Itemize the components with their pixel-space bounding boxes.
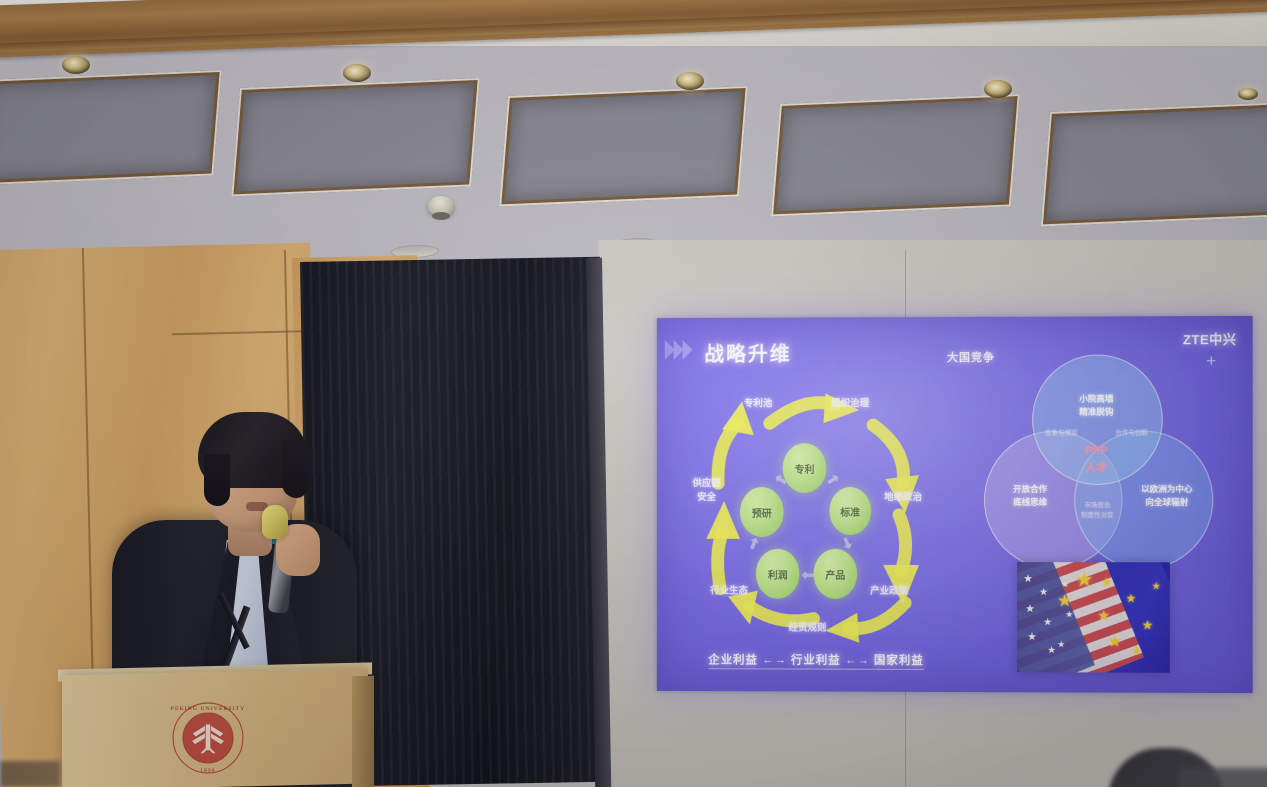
smoke-detector-icon xyxy=(428,196,454,216)
presentation-photo: 战略升维 大国竞争 ZTE中兴 + xyxy=(0,0,1267,787)
venn-diagram: 小院高墙 精准脱钩 开放合作 底线思维 以欧洲为中心 向全球辐射 PPP 人才 … xyxy=(980,354,1211,580)
speaker-hair-side xyxy=(282,440,308,498)
ring-label-industrial-policy: 产业政策 xyxy=(870,585,908,599)
bubble-profit: 利润 xyxy=(756,549,800,599)
venn-overlap-label-bottom: 市场竞合 制度性对弈 xyxy=(1066,501,1128,521)
ceiling-downlight xyxy=(984,80,1012,98)
ring-label-org-governance: 组织治理 xyxy=(831,397,869,411)
bubble-connector-arrow xyxy=(841,536,854,551)
triple-chevron-icon xyxy=(665,340,699,360)
bubble-connector-arrow xyxy=(748,536,761,550)
venn-label-top: 小院高墙 精准脱钩 xyxy=(1058,393,1134,419)
projection-screen: 战略升维 大国竞争 ZTE中兴 + xyxy=(657,316,1253,693)
ceiling-coffer-panel xyxy=(499,86,748,207)
foreground-shadow xyxy=(0,761,60,787)
ring-label-industry-ecology: 行业生态 xyxy=(710,585,748,599)
bubble-connector-arrow xyxy=(826,473,841,487)
ceiling-downlight xyxy=(1238,88,1258,100)
bubble-patent: 专利 xyxy=(783,443,827,493)
seal-year-text: 1898 xyxy=(200,768,216,774)
ceiling-coffer-panel xyxy=(231,78,480,197)
slide-bottom-statement: 企业利益 ←→ 行业利益 ←→ 国家利益 xyxy=(708,651,924,670)
podium-side-panel xyxy=(352,676,374,787)
bubble-connector-arrow xyxy=(801,571,813,580)
ceiling-downlight xyxy=(676,72,704,90)
cycle-arrow-bottom-right xyxy=(813,595,909,643)
ceiling-coffer-panel xyxy=(1041,102,1267,227)
seal-university-text: PEKING UNIVERSITY xyxy=(171,706,246,712)
bubble-product: 产品 xyxy=(813,549,857,599)
ring-label-geopolitics: 地缘政治 xyxy=(884,491,922,505)
ceiling-coffer-panel xyxy=(0,70,222,185)
cycle-arrow-left-upper xyxy=(708,401,760,487)
venn-label-center: PPP 人才 xyxy=(1072,443,1120,476)
ring-label-trade-rules: 经贸规则 xyxy=(789,622,827,636)
bubble-standard: 标准 xyxy=(829,487,871,535)
ceiling-downlight xyxy=(62,56,90,74)
venn-label-left: 开放合作 底线思维 xyxy=(992,483,1068,509)
venn-overlap-label-top-left: 竞争与博弈 xyxy=(1030,429,1092,439)
ceiling-downlight xyxy=(343,64,371,82)
ceiling-coffer-panel xyxy=(771,94,1020,217)
ring-label-patent-pool: 专利池 xyxy=(744,397,772,411)
venn-label-right: 以欧洲为中心 向全球辐射 xyxy=(1125,483,1210,509)
zte-logo: ZTE中兴 xyxy=(1183,329,1237,348)
peking-university-seal: PEKING UNIVERSITY 1898 xyxy=(170,700,246,776)
venn-overlap-label-top-right: 合作与创新 xyxy=(1100,429,1162,439)
ring-label-supply-chain-security: 供应链 安全 xyxy=(692,477,720,504)
audience-member-shoulder xyxy=(1180,768,1267,787)
us-eu-flags-image: ★ ★ ★ ★ ★ ★ ★ ★ ★ ★ ★ ★ ★ ★ ★ ★ ★ ★ xyxy=(1017,562,1170,673)
handheld-microphone-head xyxy=(262,505,288,539)
slide-title: 战略升维 xyxy=(704,338,791,367)
bubble-pre-research: 预研 xyxy=(740,487,784,537)
